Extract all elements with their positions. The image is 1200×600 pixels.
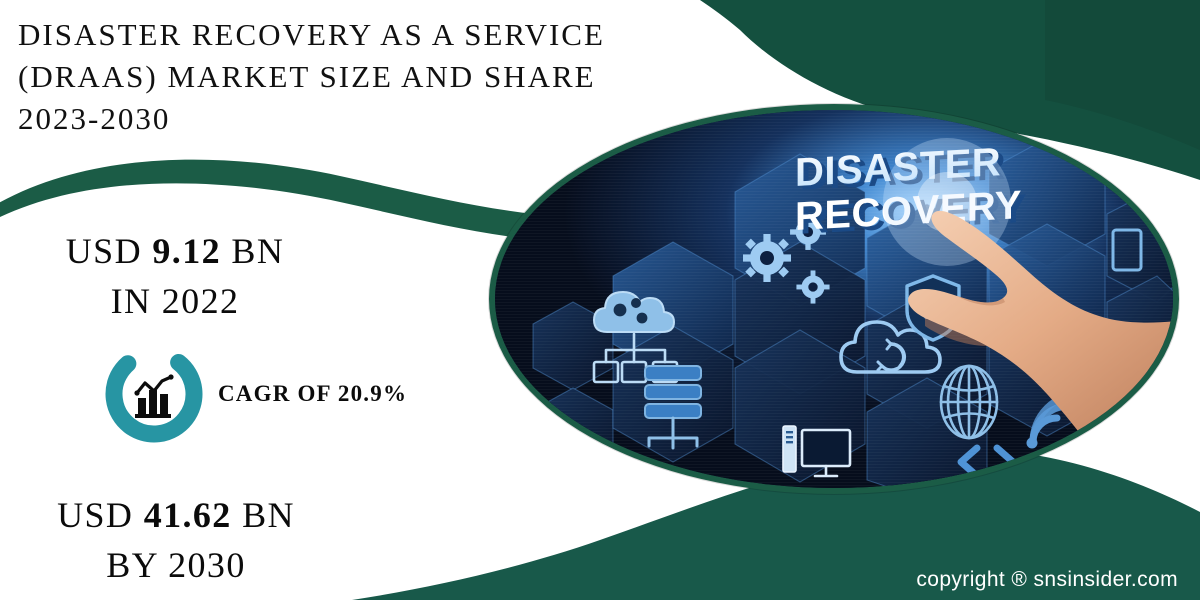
page-title-line-3: 2023-2030 <box>18 98 778 140</box>
infographic-poster: DISASTER RECOVERY AS A SERVICE (DRAAS) M… <box>0 0 1200 600</box>
hero-image-content: DISASTER RECOVERY DISASTER RECOVERY <box>495 110 1173 488</box>
globe-wireframe-icon <box>941 366 997 438</box>
stat-forecast-year-prefix: USD <box>57 495 133 535</box>
stat-forecast-year: USD 41.62 BN BY 2030 <box>6 490 346 590</box>
stat-base-year-number: 9.12 <box>152 231 221 271</box>
stat-base-year-unit: BN <box>231 231 284 271</box>
hero-image: DISASTER RECOVERY DISASTER RECOVERY <box>489 104 1179 494</box>
stat-forecast-year-unit: BN <box>242 495 295 535</box>
stat-forecast-year-value: USD 41.62 BN <box>6 490 346 540</box>
bottom-left-white-space <box>0 592 120 600</box>
stat-base-year-value: USD 9.12 BN <box>10 226 340 276</box>
page-title-line-2: (DRAAS) MARKET SIZE AND SHARE <box>18 56 778 98</box>
cagr-badge: CAGR OF 20.9% <box>104 344 407 444</box>
stat-base-year: USD 9.12 BN IN 2022 <box>10 226 340 326</box>
copyright-text: copyright ® snsinsider.com <box>916 568 1178 592</box>
stat-base-year-prefix: USD <box>66 231 142 271</box>
stat-base-year-period: IN 2022 <box>10 276 340 326</box>
cagr-label: CAGR OF 20.9% <box>218 381 407 407</box>
bar-chart-growth-icon <box>104 344 204 444</box>
stat-forecast-year-period: BY 2030 <box>6 540 346 590</box>
stat-forecast-year-number: 41.62 <box>144 495 232 535</box>
page-title-line-1: DISASTER RECOVERY AS A SERVICE <box>18 14 778 56</box>
page-title: DISASTER RECOVERY AS A SERVICE (DRAAS) M… <box>18 14 778 140</box>
